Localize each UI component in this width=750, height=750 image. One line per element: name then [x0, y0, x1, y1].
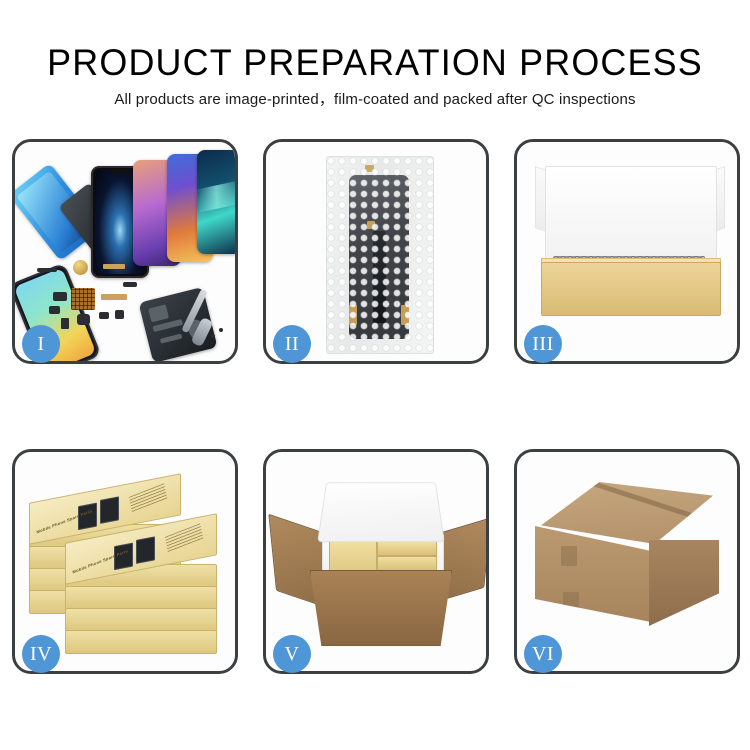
vibrator-part — [99, 312, 109, 319]
copper-shield-part — [71, 288, 95, 310]
stacked-box — [65, 586, 217, 610]
carton-side-face — [649, 540, 719, 626]
bracket-part — [115, 310, 124, 319]
stacked-box — [65, 608, 217, 632]
page-title: PRODUCT PREPARATION PROCESS — [11, 42, 739, 84]
box-tray-kraft — [541, 262, 721, 316]
bubble-wrap-bag — [326, 156, 434, 354]
step-badge-5: V — [273, 635, 311, 673]
stacked-box — [65, 630, 217, 654]
step-badge-2: II — [273, 325, 311, 363]
shipping-carton-open — [282, 476, 476, 646]
foam-box-lid — [317, 482, 445, 542]
header: PRODUCT PREPARATION PROCESS All products… — [0, 0, 750, 122]
step-badge-1: I — [22, 325, 60, 363]
process-steps-grid: Mobile Phone Spare Parts Mobile Phone Sp… — [12, 139, 738, 697]
button-flex-part — [123, 282, 137, 287]
battery-connector-part — [37, 268, 57, 272]
stacked-boxes: Mobile Phone Spare Parts Mobile Phone Sp… — [27, 472, 227, 658]
carton-tape-upper — [561, 546, 577, 566]
logic-board-part — [77, 314, 90, 325]
screw-part-a — [211, 334, 215, 338]
carton-seam — [566, 472, 701, 520]
sealed-carton — [535, 482, 725, 638]
step-badge-4: IV — [22, 635, 60, 673]
sim-tray-part — [61, 318, 69, 329]
flex-cable-part-b — [101, 294, 127, 300]
carton-body — [310, 570, 452, 646]
packed-box-row — [377, 541, 437, 556]
step-badge-6: VI — [524, 635, 562, 673]
bubble-texture — [327, 157, 433, 353]
inner-box-open — [535, 166, 725, 326]
screw-part-b — [219, 328, 223, 332]
page-subtitle: All products are image-printed，film-coat… — [0, 88, 750, 109]
step-badge-3: III — [524, 325, 562, 363]
camera-module-part — [49, 306, 60, 314]
phone-screen-teal — [197, 150, 235, 254]
flex-cable-part-a — [103, 264, 125, 269]
taptic-engine-part — [73, 260, 88, 275]
carton-tape-lower — [563, 592, 579, 608]
speaker-part — [53, 292, 67, 301]
product-preparation-infographic: PRODUCT PREPARATION PROCESS All products… — [0, 0, 750, 750]
packed-box-row — [377, 556, 437, 571]
